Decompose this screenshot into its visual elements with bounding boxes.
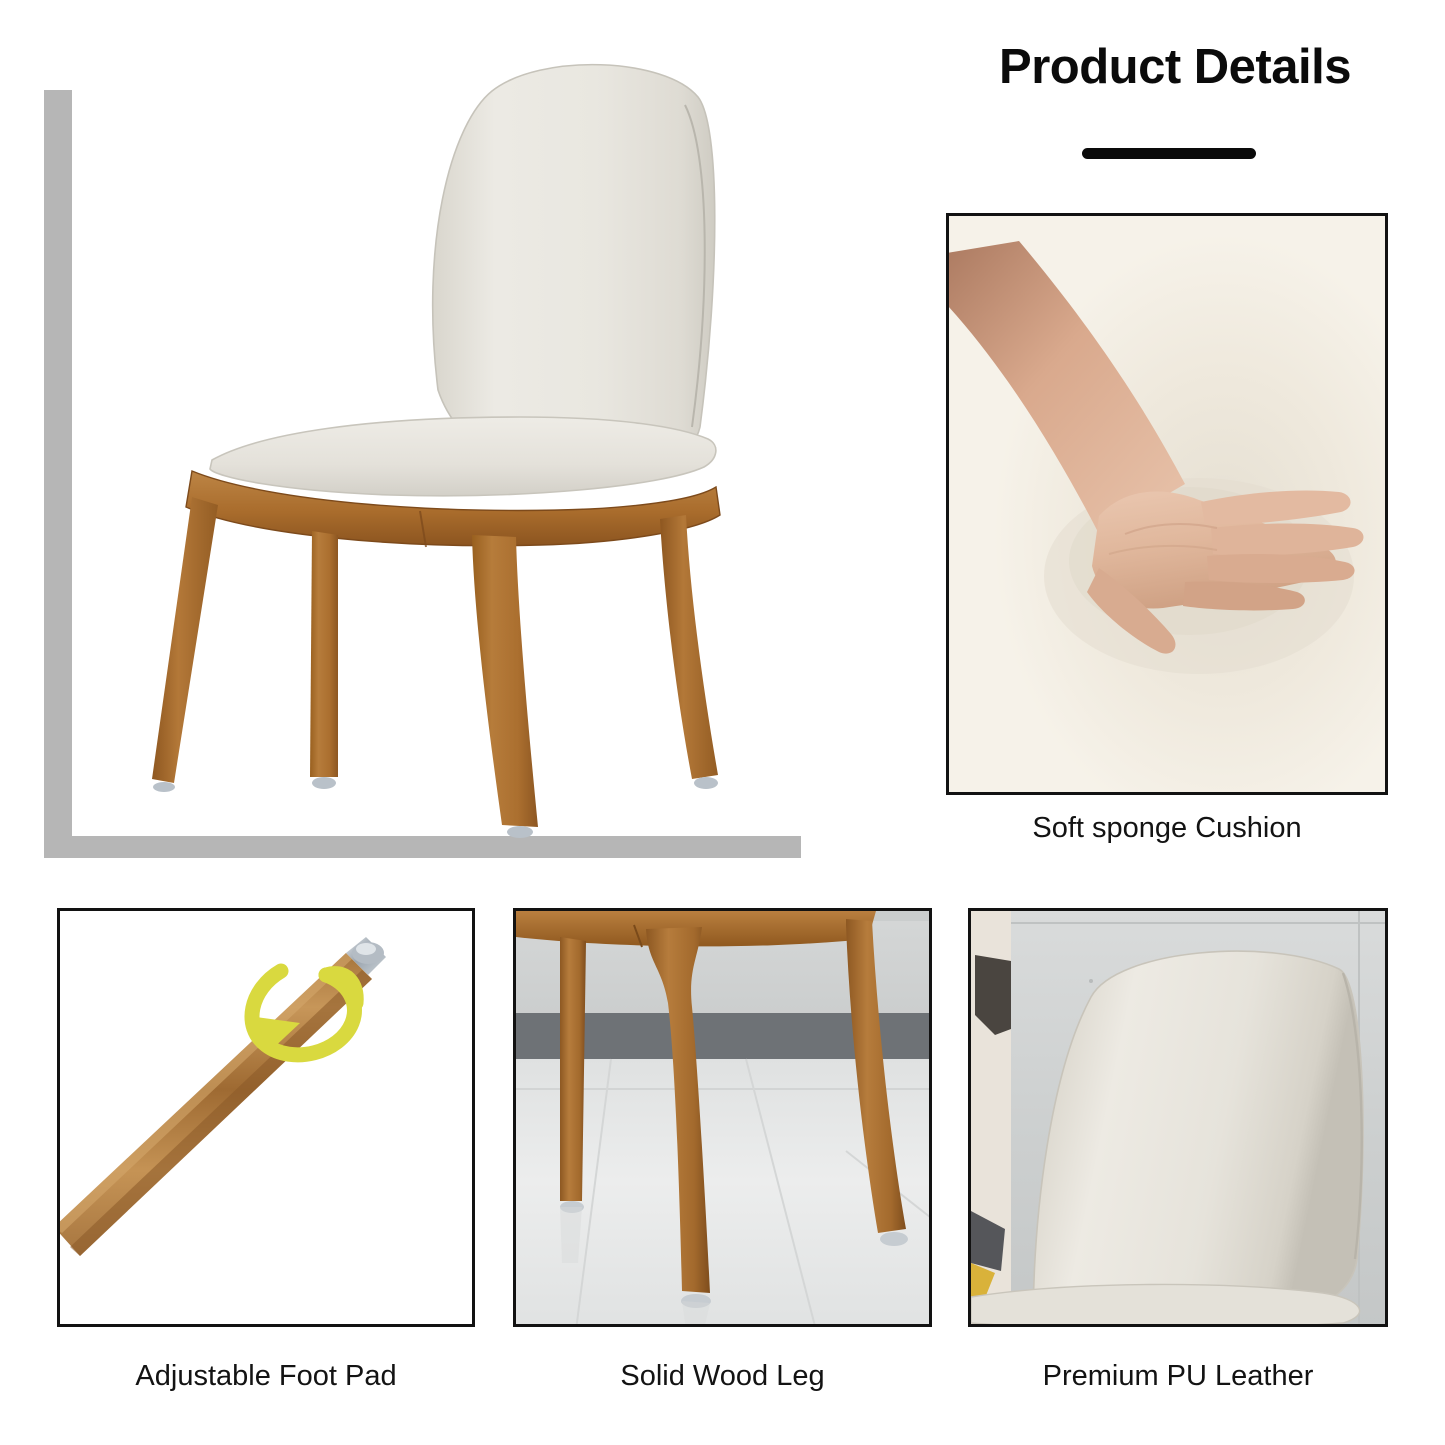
page-title: Product Details <box>940 42 1410 93</box>
panel-adjustable-foot-pad <box>57 908 475 1327</box>
hand-pressing-foam-photo <box>949 216 1385 792</box>
panel-solid-wood-leg <box>513 908 932 1327</box>
caption-solid-wood-leg: Solid Wood Leg <box>513 1360 932 1393</box>
title-underline-rule <box>1082 148 1256 159</box>
panel-premium-pu-leather <box>968 908 1388 1327</box>
caption-adjustable-foot-pad: Adjustable Foot Pad <box>57 1360 475 1393</box>
adjustable-foot-pad-photo <box>60 911 472 1324</box>
solid-wood-leg-photo <box>516 911 929 1324</box>
pu-leather-backrest-photo <box>971 911 1385 1324</box>
caption-premium-pu-leather: Premium PU Leather <box>968 1360 1388 1393</box>
caption-soft-sponge-cushion: Soft sponge Cushion <box>946 812 1388 845</box>
accent-bar-vertical <box>44 90 72 858</box>
panel-soft-sponge-cushion <box>946 213 1388 795</box>
dining-chair-hero-image <box>120 35 800 855</box>
